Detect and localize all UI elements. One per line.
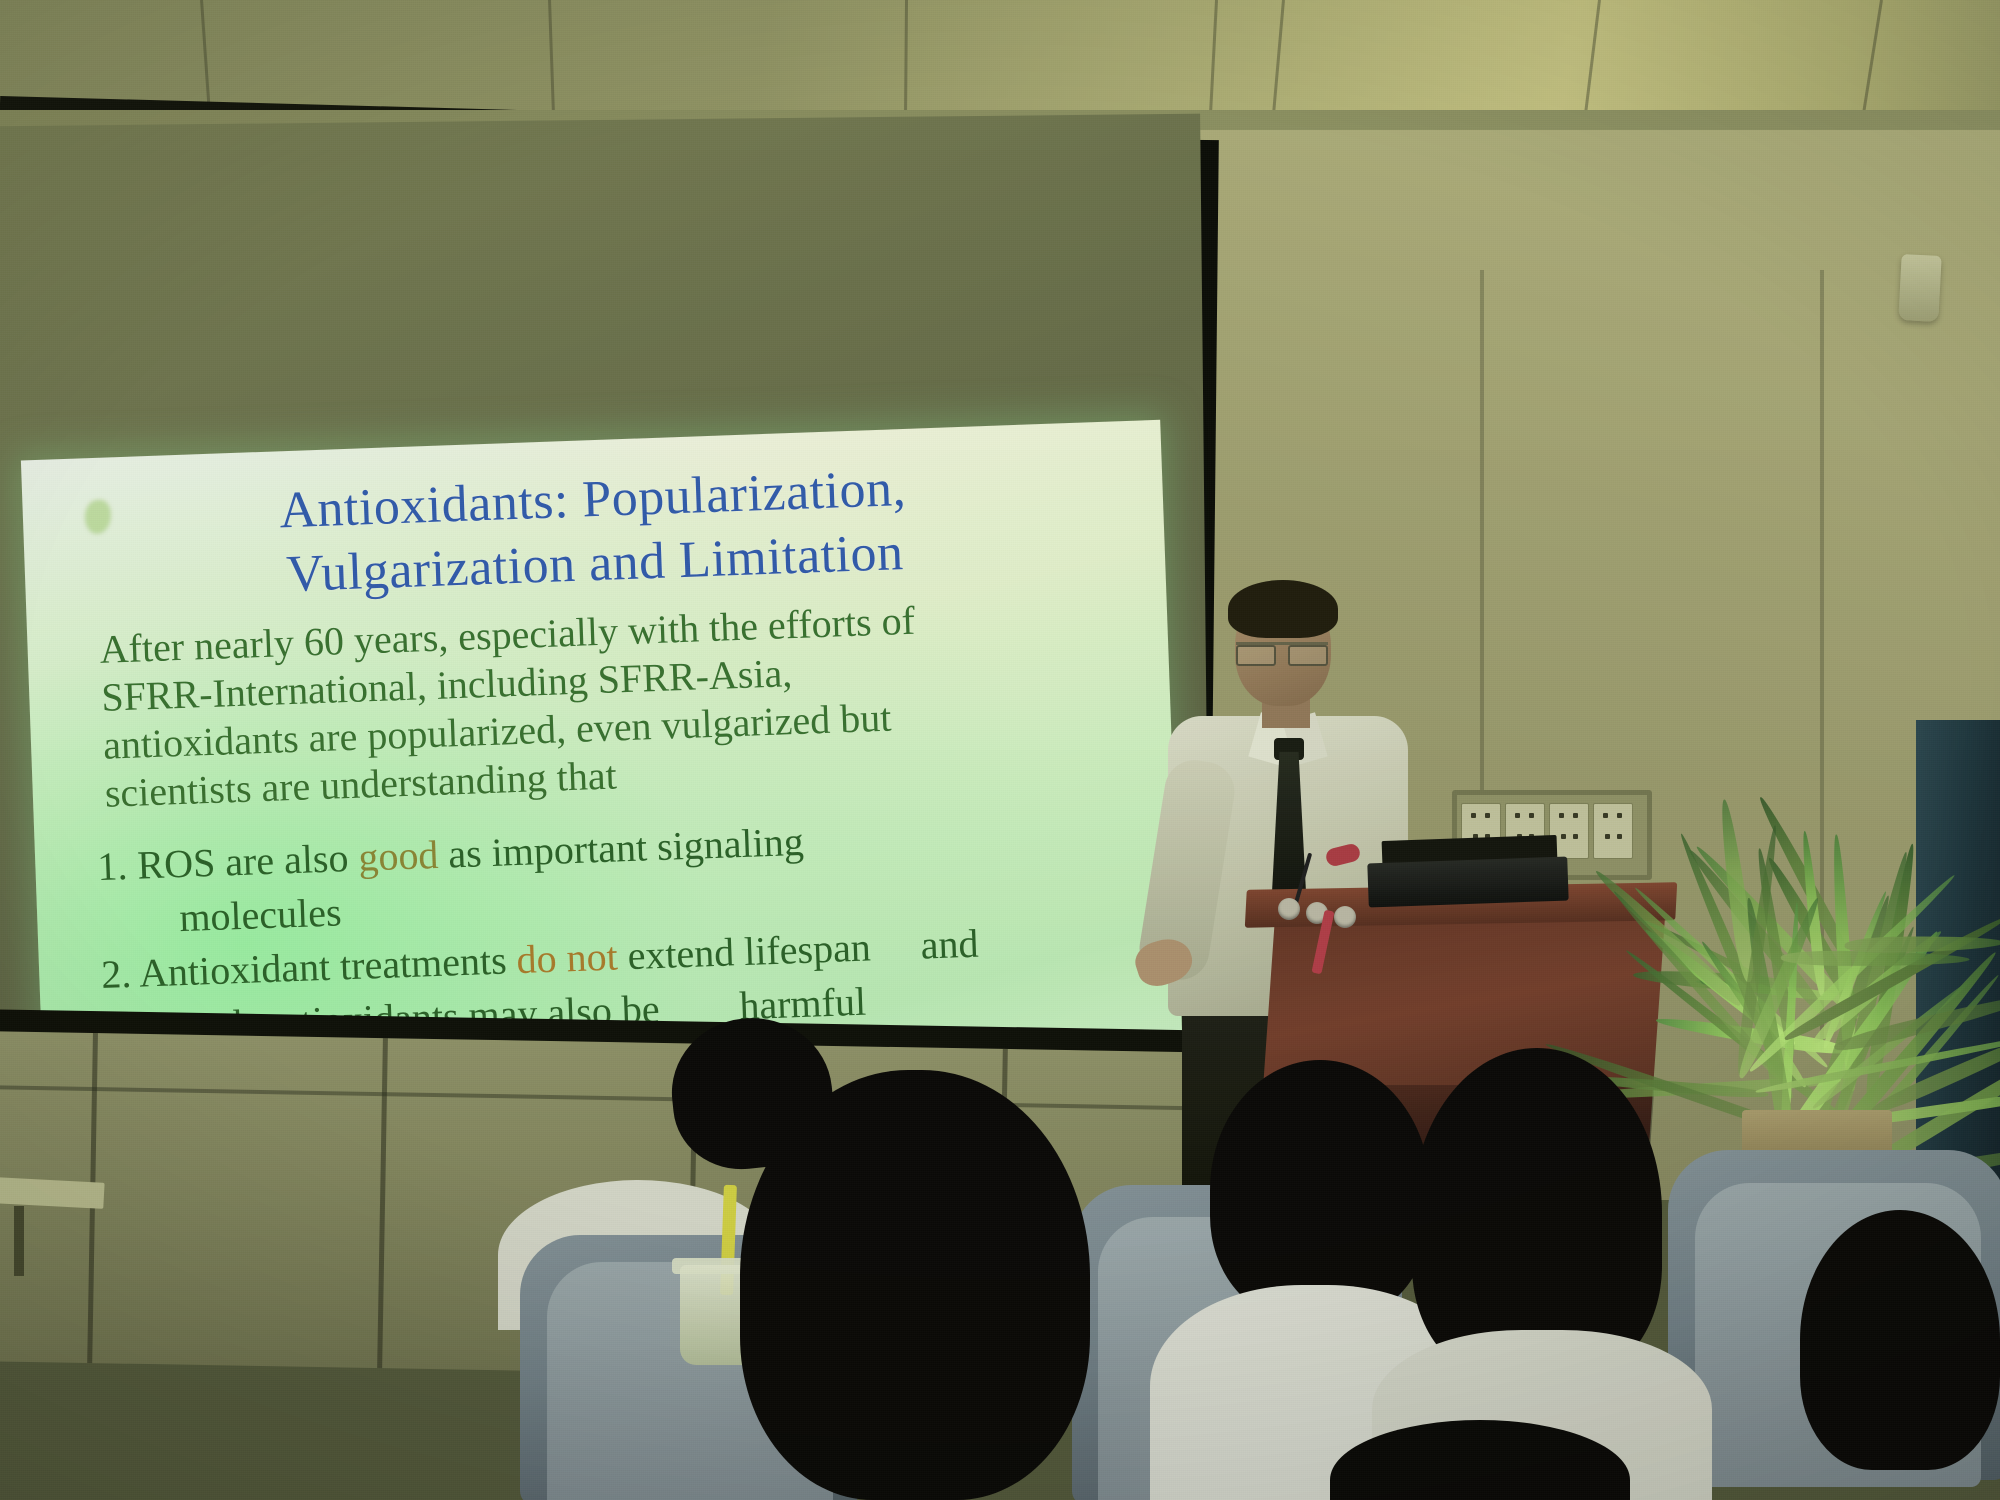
audience-head-3: [1210, 1060, 1430, 1320]
wall-ledge: [0, 1177, 105, 1209]
plant-leaf: [1844, 934, 2000, 953]
presenter-hair: [1228, 580, 1338, 638]
glasses-icon: [1236, 642, 1328, 663]
projection-screen: Antioxidants: Popularization, Vulgarizat…: [21, 420, 1183, 1090]
bullet-number: 1.: [97, 843, 129, 889]
lecture-room-photo: Antioxidants: Popularization, Vulgarizat…: [0, 0, 2000, 1500]
wall-mounted-speaker: [1898, 254, 1941, 322]
bullet-text-before: ROS are also: [127, 835, 360, 888]
audience-head-4: [1412, 1048, 1662, 1378]
slide-title: Antioxidants: Popularization, Vulgarizat…: [22, 448, 1166, 617]
bullet-text-after: as important signaling: [438, 819, 805, 877]
projection-screen-frame: Antioxidants: Popularization, Vulgarizat…: [0, 114, 1210, 1057]
podium-control-button[interactable]: [1334, 906, 1356, 928]
bullet-highlight-donot: do not: [516, 934, 619, 983]
bullet-text-before: Antioxidant treatments: [130, 937, 517, 996]
podium-control-button[interactable]: [1278, 898, 1300, 920]
bullet-text-after: extend lifespan and: [617, 921, 979, 979]
bullet-highlight-good: good: [358, 832, 440, 880]
laptop-on-podium[interactable]: [1367, 857, 1568, 908]
potted-spider-plant: [1600, 700, 2000, 1170]
bullet-number: 2.: [101, 951, 133, 997]
audience-head-5: [1800, 1210, 2000, 1470]
wall-ledge-leg: [14, 1206, 24, 1276]
slide-paragraph: After nearly 60 years, especially with t…: [99, 590, 1115, 818]
audience-head-2: [740, 1070, 1090, 1500]
